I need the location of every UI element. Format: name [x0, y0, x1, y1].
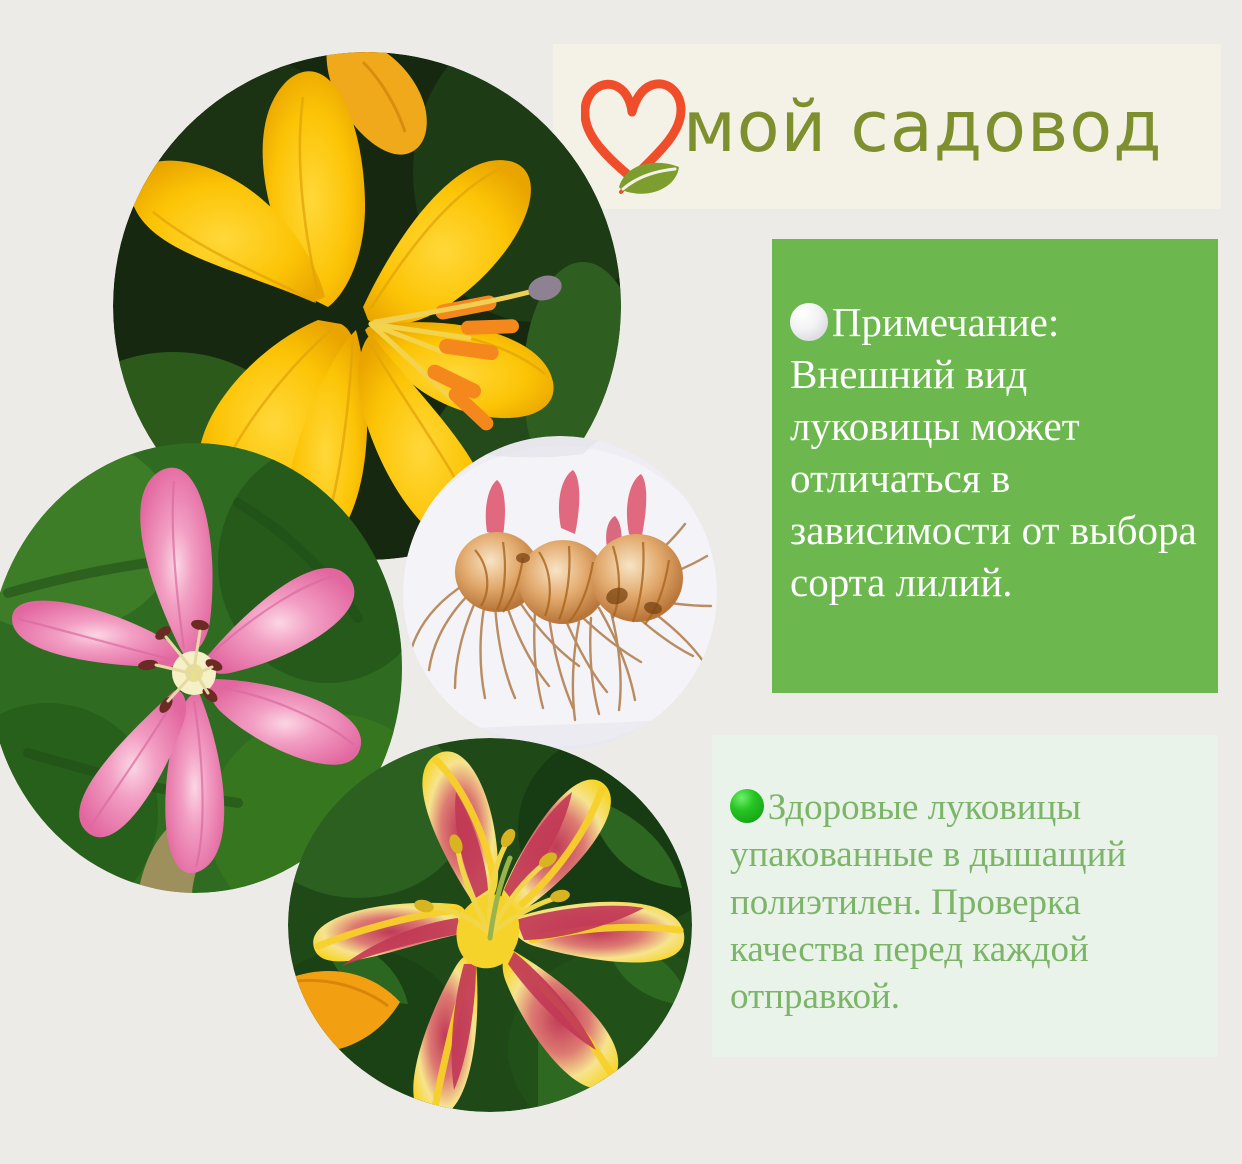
green-circle-bullet-icon [730, 789, 764, 823]
note-callout-text: Примечание: Внешний вид луковицы может о… [790, 296, 1204, 608]
note-callout-string: Примечание: Внешний вид луковицы может о… [790, 299, 1197, 605]
photo-lily-bulbs [403, 436, 717, 750]
healthy-bulbs-box: Здоровые луковицы упакованные в дышащий … [712, 735, 1218, 1057]
white-circle-bullet-icon [790, 303, 828, 341]
healthy-bulbs-text: Здоровые луковицы упакованные в дышащий … [730, 784, 1204, 1021]
photo-collage [0, 0, 740, 1164]
healthy-bulbs-string: Здоровые луковицы упакованные в дышащий … [730, 787, 1126, 1017]
note-callout-box: Примечание: Внешний вид луковицы может о… [772, 239, 1218, 693]
brand-name: мой садовод [683, 92, 1162, 162]
poster-canvas: мой садовод [0, 0, 1242, 1164]
photo-bicolor-lily [288, 738, 692, 1112]
